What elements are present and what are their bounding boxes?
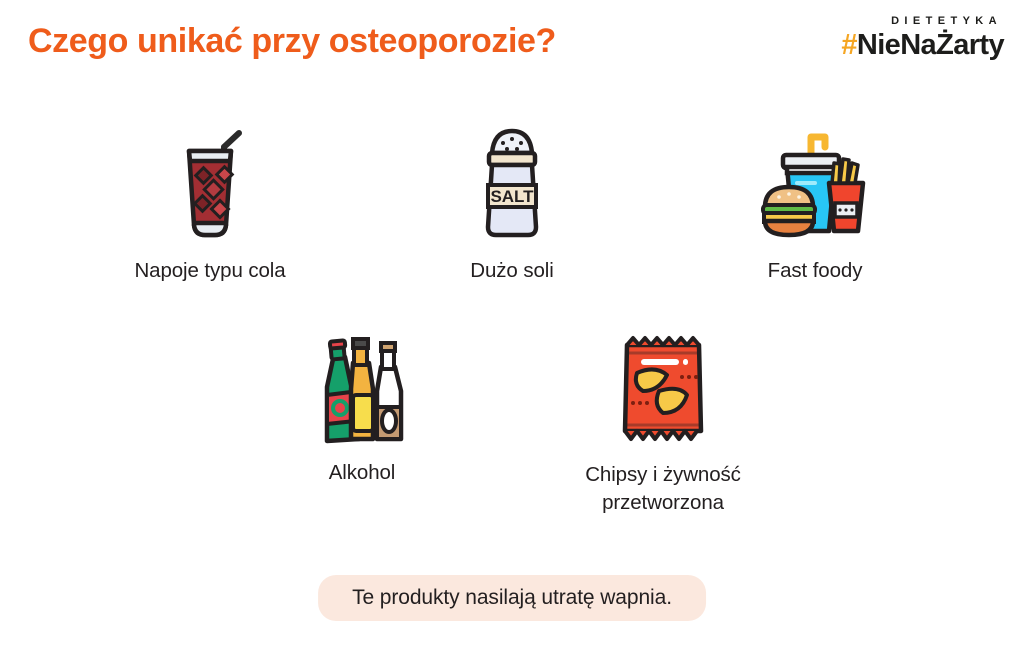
item-cola: Napoje typu cola (90, 118, 330, 285)
item-alcohol: Alkohol (242, 325, 482, 487)
item-alcohol-figure (242, 325, 482, 445)
chips-bag-icon (611, 329, 715, 445)
fast-food-icon (759, 125, 871, 243)
item-cola-figure (90, 118, 330, 243)
item-fastfood-figure (695, 118, 935, 243)
item-chips-figure (543, 325, 783, 445)
brand-name: #NieNaŻarty (841, 28, 1004, 62)
item-salt-label: Dużo soli (392, 257, 632, 285)
brand-name-text: NieNaŻarty (857, 29, 1004, 61)
item-chips-label: Chipsy i żywność przetworzona (543, 461, 783, 517)
cola-glass-icon (167, 125, 253, 243)
item-alcohol-label: Alkohol (242, 459, 482, 487)
item-salt-figure: SALT (392, 118, 632, 243)
item-cola-label: Napoje typu cola (90, 257, 330, 285)
brand-logo: DIETETYKA #NieNaŻarty (841, 14, 1004, 62)
salt-shaker-icon: SALT (474, 123, 550, 243)
brand-kicker: DIETETYKA (841, 14, 1004, 28)
salt-label-text: SALT (490, 187, 534, 206)
item-fastfood: Fast foody (695, 118, 935, 285)
page-title: Czego unikać przy osteoporozie? (28, 22, 556, 61)
header: Czego unikać przy osteoporozie? DIETETYK… (0, 0, 1024, 100)
item-chips: Chipsy i żywność przetworzona (543, 325, 783, 517)
item-salt: SALT Dużo soli (392, 118, 632, 285)
item-fastfood-label: Fast foody (695, 257, 935, 285)
alcohol-bottles-icon (307, 329, 417, 445)
hash-icon: # (841, 29, 857, 61)
footer-note-banner: Te produkty nasilają utratę wapnia. (318, 575, 706, 621)
